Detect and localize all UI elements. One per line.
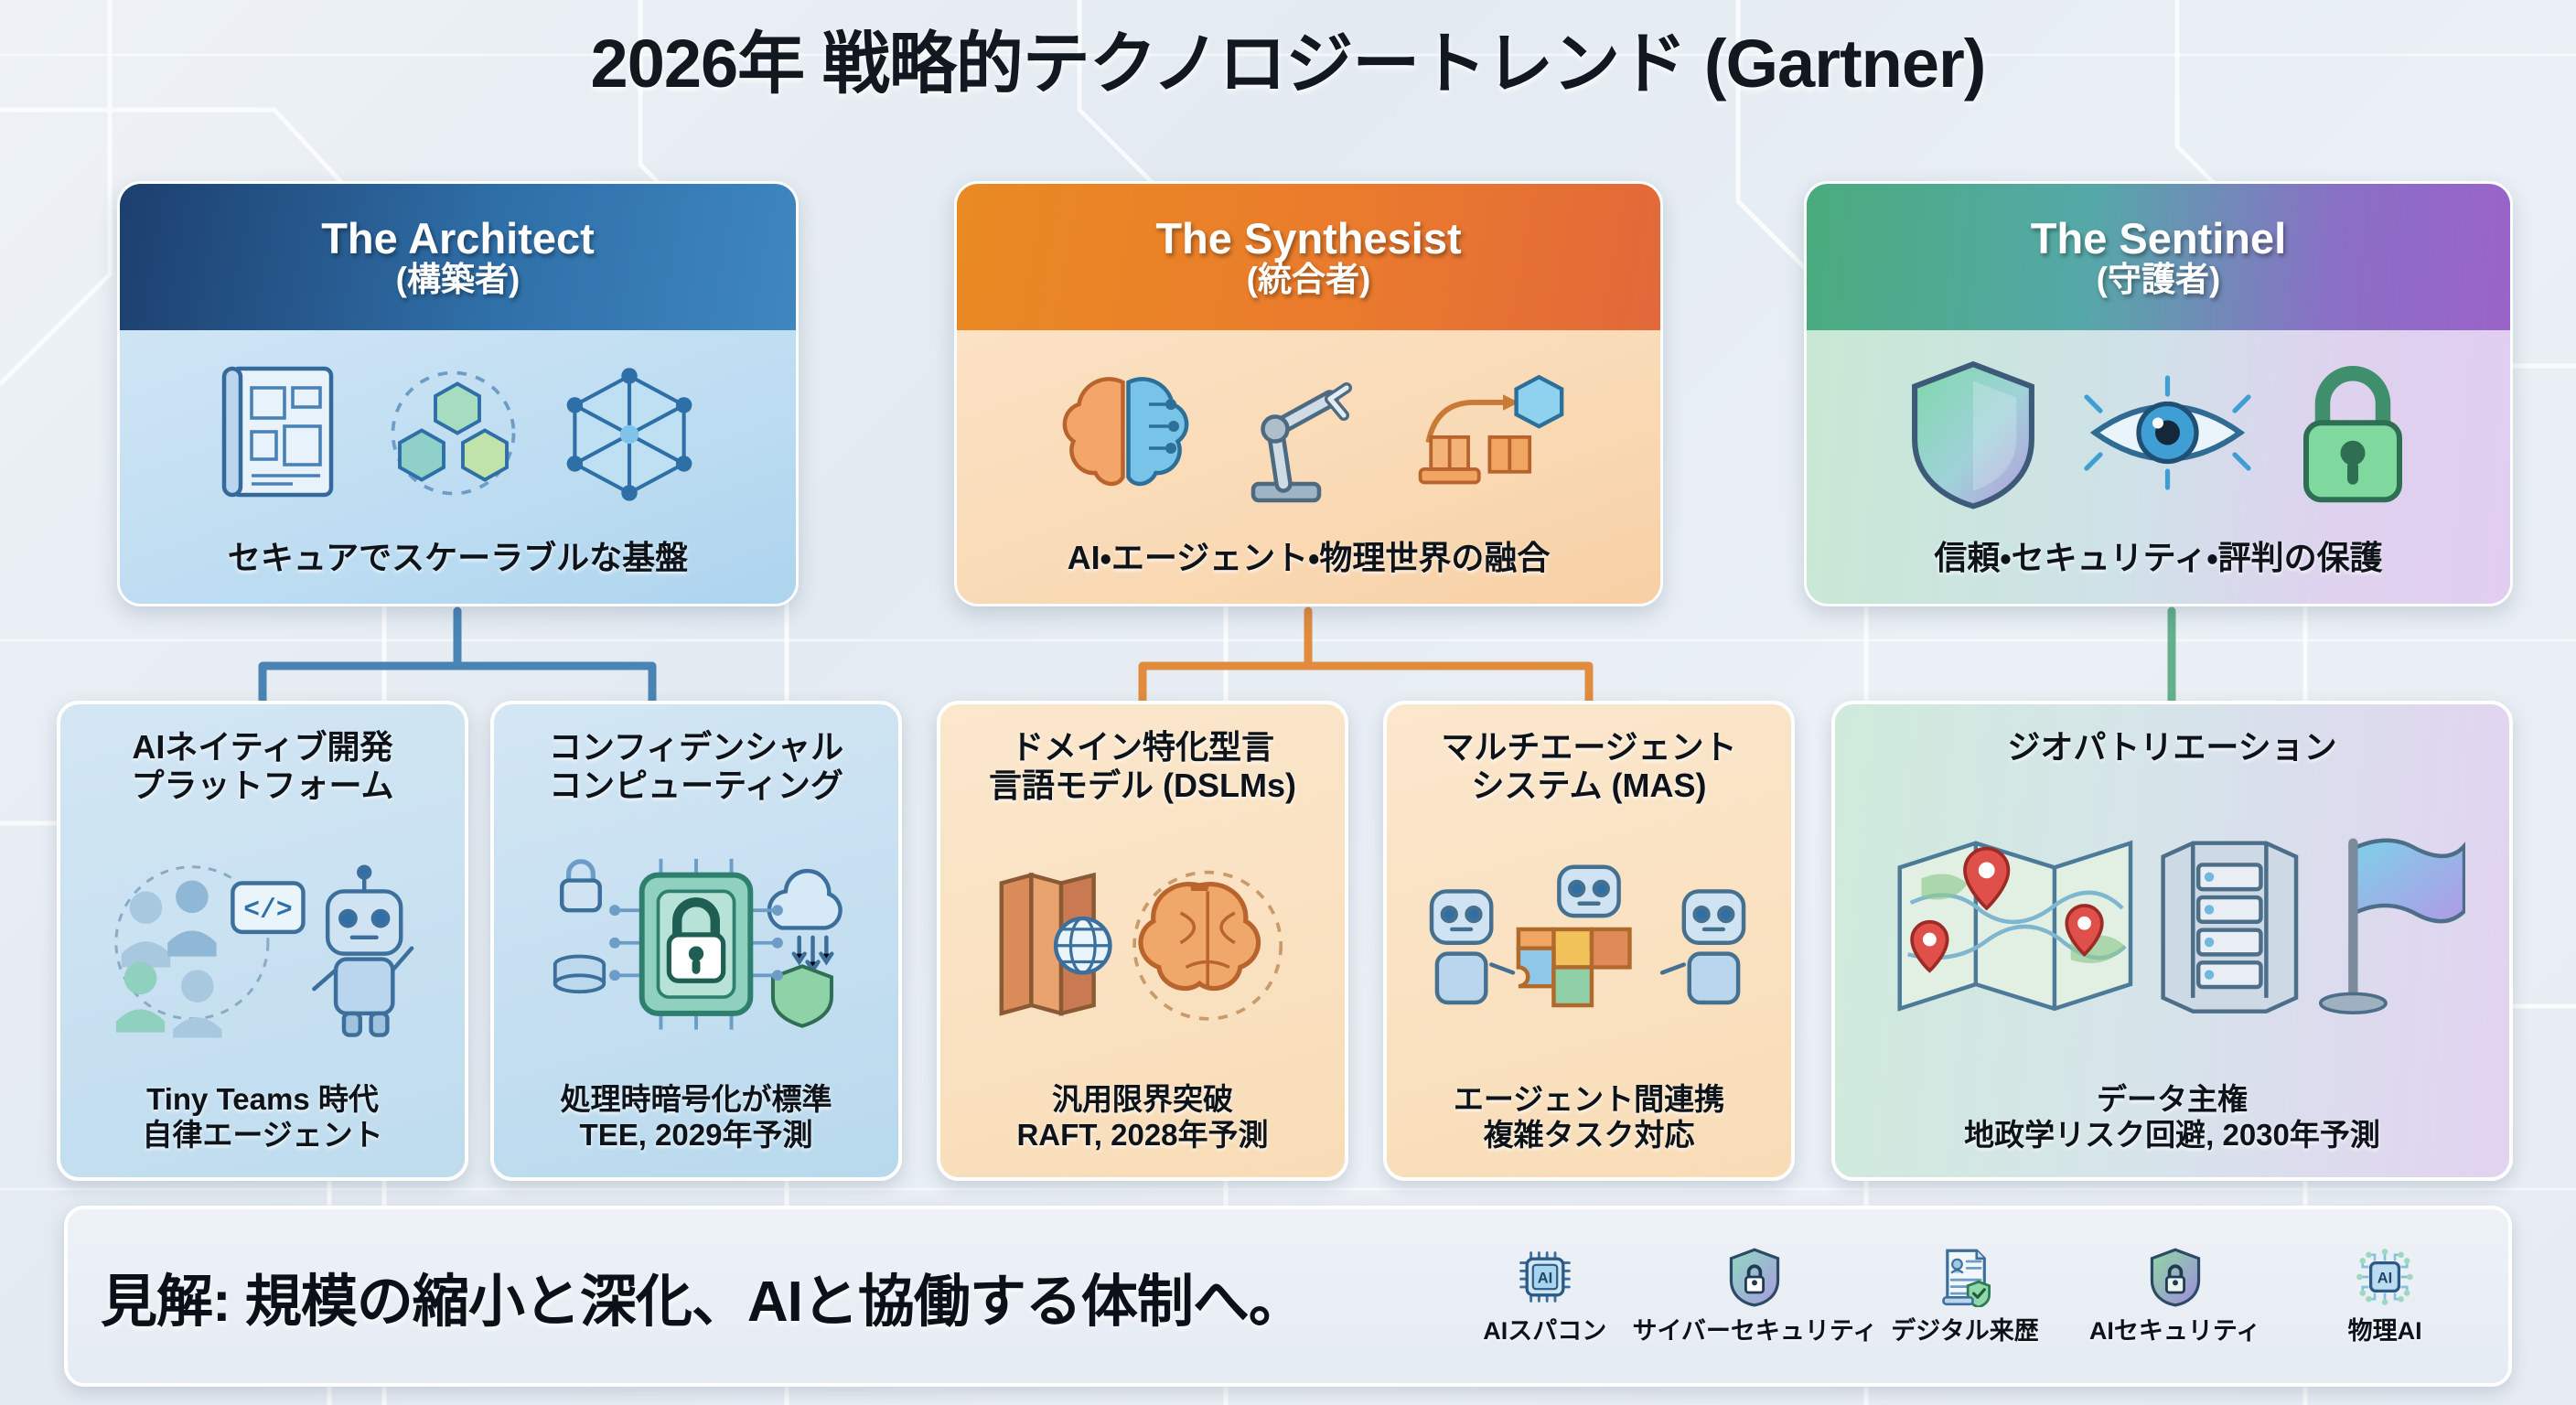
ai-circuit-chip-icon: AI	[2355, 1247, 2415, 1307]
pillar-synthesist-header: The Synthesist (統合者)	[957, 184, 1660, 330]
network-cube-icon	[556, 358, 703, 509]
card-mas[interactable]: マルチエージェント システム (MAS)	[1383, 701, 1795, 1181]
pillar-sentinel-name-jp: (守護者)	[2097, 263, 2221, 298]
svg-text:AI: AI	[1538, 1270, 1553, 1286]
eye-icon	[2078, 364, 2257, 501]
pillar-architect[interactable]: The Architect (構築者)	[117, 181, 799, 606]
card-foot-line1: データ主権	[1964, 1081, 2380, 1118]
pillar-sentinel-body: 信頼・セキュリティ・評判の保護	[1807, 330, 2510, 606]
pillar-row: The Architect (構築者)	[0, 181, 2576, 611]
footer-item-ai-supercomputer[interactable]: AI AIスパコン	[1446, 1247, 1643, 1346]
books-and-brain-icon	[964, 845, 1321, 1042]
card-title: ドメイン特化型言 言語モデル (DSLMs)	[980, 728, 1305, 806]
team-and-robot-icon: </>	[84, 845, 441, 1042]
footer-item-physical-ai[interactable]: AI 物理AI	[2287, 1247, 2484, 1346]
shield-icon	[1895, 353, 2051, 513]
insight-text: 見解: 規模の縮小と深化、AIと協働する体制へ。	[68, 1255, 1440, 1337]
ai-chip-icon: AI	[1515, 1247, 1575, 1307]
pillar-architect-name-jp: (構築者)	[396, 263, 521, 298]
card-confidential-computing[interactable]: コンフィデンシャル コンピューティング	[490, 701, 902, 1181]
card-foot-line1: エージェント間連携	[1454, 1081, 1724, 1118]
pillar-architect-caption: セキュアでスケーラブルな基盤	[120, 531, 796, 579]
pillar-synthesist-caption: AI・エージェント・物理世界の融合	[957, 531, 1660, 579]
robots-puzzle-icon	[1411, 845, 1767, 1042]
pillar-sentinel-name-en: The Sentinel	[2031, 216, 2286, 261]
card-title-line1: コンフィデンシャル	[549, 728, 843, 767]
card-ai-native-dev-platform[interactable]: AIネイティブ開発 プラットフォーム </>	[57, 701, 468, 1181]
pillar-synthesist-name-en: The Synthesist	[1155, 216, 1461, 261]
logistics-boxes-icon	[1407, 358, 1567, 509]
footer-item-digital-provenance[interactable]: デジタル来歴	[1866, 1247, 2063, 1346]
footer-item-label: 物理AI	[2348, 1311, 2422, 1346]
card-footer: 汎用限界突破 RAFT, 2028年予測	[1016, 1081, 1268, 1177]
footer-icon-row: AI AIスパコン サイバーセキュリティ	[1440, 1209, 2508, 1383]
secure-chip-icon	[518, 845, 875, 1042]
card-title: マルチエージェント システム (MAS)	[1432, 728, 1745, 806]
card-title-line2: プラットフォーム	[132, 767, 394, 805]
card-foot-line1: 処理時暗号化が標準	[561, 1081, 832, 1118]
card-title-line1: マルチエージェント	[1441, 728, 1736, 767]
pillar-architect-icons	[120, 330, 796, 530]
insight-footer: 見解: 規模の縮小と深化、AIと協働する体制へ。 AI AIスパコン	[64, 1206, 2512, 1387]
card-title: AIネイティブ開発 プラットフォーム	[123, 728, 403, 806]
card-footer: エージェント間連携 複雑タスク対応	[1454, 1081, 1724, 1177]
card-footer: Tiny Teams 時代 自律エージェント	[142, 1081, 382, 1177]
footer-item-label: デジタル来歴	[1891, 1311, 2038, 1346]
card-foot-line2: 地政学リスク回避, 2030年予測	[1964, 1117, 2380, 1153]
document-verified-icon	[1937, 1247, 1993, 1307]
card-foot-line1: Tiny Teams 時代	[142, 1081, 382, 1118]
pillar-sentinel-icons	[1807, 330, 2510, 530]
card-foot-line2: 自律エージェント	[142, 1117, 382, 1153]
card-foot-line2: RAFT, 2028年予測	[1016, 1117, 1268, 1153]
card-art	[940, 806, 1345, 1081]
shield-lock-green-icon	[2147, 1247, 2204, 1307]
pillar-synthesist-icons	[957, 330, 1660, 530]
pillar-architect-name-en: The Architect	[321, 216, 595, 261]
card-geopatriation[interactable]: ジオパトリエーション	[1831, 701, 2513, 1181]
card-title: ジオパトリエーション	[1998, 728, 2345, 767]
pillar-architect-header: The Architect (構築者)	[120, 184, 796, 330]
card-title-line1: AIネイティブ開発	[132, 728, 394, 767]
pillar-architect-body: セキュアでスケーラブルな基盤	[120, 330, 796, 606]
svg-text:</>: </>	[243, 894, 292, 925]
footer-item-label: AIセキュリティ	[2089, 1311, 2260, 1346]
pillar-synthesist[interactable]: The Synthesist (統合者)	[954, 181, 1663, 606]
card-title-line1: ジオパトリエーション	[2007, 728, 2336, 767]
pillar-synthesist-name-jp: (統合者)	[1247, 263, 1371, 298]
pillar-sentinel-header: The Sentinel (守護者)	[1807, 184, 2510, 330]
pillar-sentinel-caption: 信頼・セキュリティ・評判の保護	[1807, 531, 2510, 579]
card-title-line2: 言語モデル (DSLMs)	[989, 767, 1296, 805]
card-art	[1835, 767, 2509, 1080]
card-art	[494, 806, 898, 1081]
card-footer: データ主権 地政学リスク回避, 2030年予測	[1964, 1081, 2380, 1177]
card-title: コンフィデンシャル コンピューティング	[540, 728, 853, 806]
pillar-sentinel[interactable]: The Sentinel (守護者)	[1804, 181, 2513, 606]
card-art	[1387, 806, 1791, 1081]
footer-item-cybersecurity[interactable]: サイバーセキュリティ	[1657, 1247, 1853, 1346]
card-title-line2: システム (MAS)	[1441, 767, 1736, 805]
svg-text:AI: AI	[2377, 1270, 2393, 1286]
modular-blocks-icon	[378, 358, 529, 509]
card-foot-line2: TEE, 2029年予測	[561, 1117, 832, 1153]
card-dslms[interactable]: ドメイン特化型言 言語モデル (DSLMs)	[937, 701, 1348, 1181]
shield-lock-icon	[1726, 1247, 1783, 1307]
page-title: 2026年 戦略的テクノロジートレンド (Gartner)	[0, 9, 2576, 107]
padlock-icon	[2284, 353, 2421, 513]
card-foot-line1: 汎用限界突破	[1016, 1081, 1268, 1118]
brain-ai-icon	[1050, 358, 1201, 509]
card-title-line1: ドメイン特化型言	[989, 728, 1296, 767]
card-footer: 処理時暗号化が標準 TEE, 2029年予測	[561, 1081, 832, 1177]
card-foot-line2: 複雑タスク対応	[1454, 1117, 1724, 1153]
footer-item-label: サイバーセキュリティ	[1632, 1311, 1877, 1346]
card-title-line2: コンピューティング	[549, 767, 843, 805]
card-art: </>	[60, 806, 465, 1081]
footer-item-label: AIスパコン	[1483, 1311, 1606, 1346]
pillar-synthesist-body: AI・エージェント・物理世界の融合	[957, 330, 1660, 606]
blueprint-icon	[213, 358, 350, 509]
map-server-flag-icon	[1880, 819, 2465, 1029]
robot-arm-icon	[1229, 358, 1379, 509]
footer-item-ai-security[interactable]: AIセキュリティ	[2077, 1247, 2273, 1346]
card-row: AIネイティブ開発 プラットフォーム </>	[0, 701, 2576, 1185]
